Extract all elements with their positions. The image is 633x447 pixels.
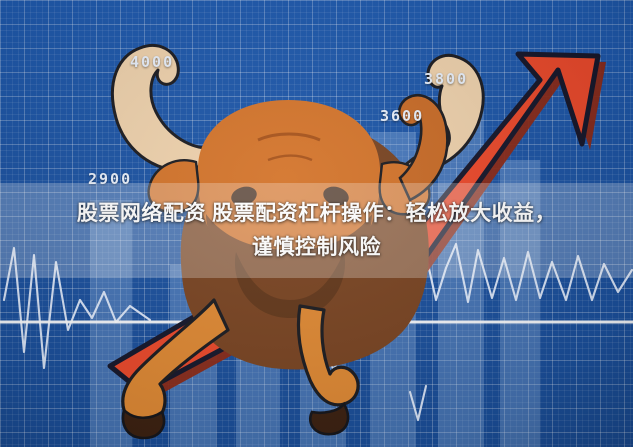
vignette-overlay [0,0,633,447]
banner-image: 4000380036002900 股票网络配资 股票配资杠杆操作：轻松放大收益，… [0,0,633,447]
